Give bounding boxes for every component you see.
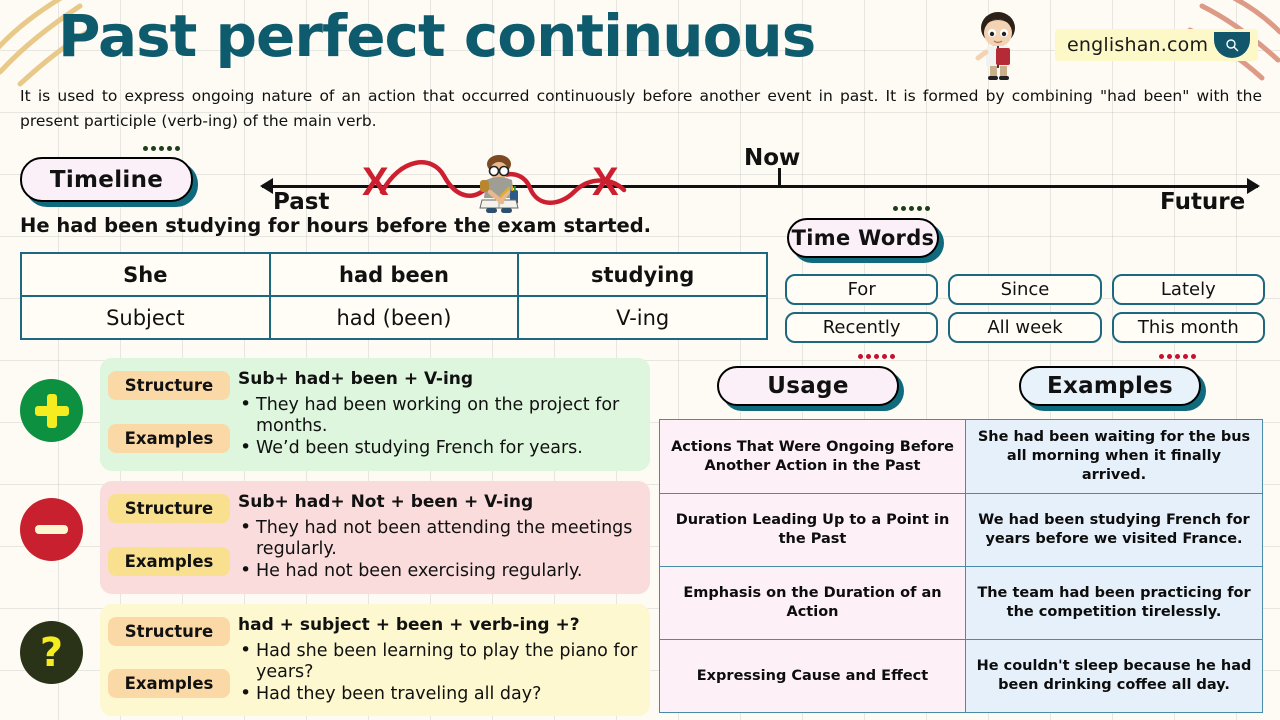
positive-content: Sub+ had+ been + V-ing They had been wor… (230, 366, 640, 463)
plus-glyph (35, 394, 69, 428)
table-row: Emphasis on the Duration of an Action Th… (660, 567, 1263, 640)
intro-paragraph: It is used to express ongoing nature of … (20, 84, 1262, 134)
usage-cell: Emphasis on the Duration of an Action (660, 567, 966, 640)
time-word-chip[interactable]: For (785, 274, 938, 305)
usage-cell: Duration Leading Up to a Point in the Pa… (660, 494, 966, 567)
boy-with-book-mascot-icon (968, 8, 1028, 80)
minus-glyph (35, 525, 68, 534)
question-glyph: ? (40, 633, 63, 673)
negative-content: Sub+ had+ Not + been + V-ing They had no… (230, 489, 640, 586)
list-item: He had not been exercising regularly. (238, 561, 640, 582)
table-row: She had been studying (21, 253, 767, 296)
negative-examples-list: They had not been attending the meetings… (238, 518, 640, 582)
usage-badge-label: Usage (767, 373, 848, 399)
positive-tag-column: Structure Examples (108, 366, 230, 463)
brand-text: englishan.com (1067, 34, 1208, 56)
timeline-past-label: Past (273, 189, 329, 215)
usage-badge-dots (858, 354, 895, 359)
timeline-arrow-right-icon (1247, 178, 1260, 194)
form-structure-table: She had been studying Subject had (been)… (20, 252, 768, 340)
page-title: Past perfect continuous (58, 2, 815, 70)
question-examples-list: Had she been learning to play the piano … (238, 641, 640, 705)
examples-badge-dots (1159, 354, 1196, 359)
question-circle-icon: ? (20, 621, 83, 684)
example-cell: We had been studying French for years be… (966, 494, 1263, 567)
usage-cell: Actions That Were Ongoing Before Another… (660, 420, 966, 494)
question-structure-formula: had + subject + been + verb-ing +? (238, 615, 640, 635)
question-tag-column: Structure Examples (108, 612, 230, 708)
usage-examples-table: Actions That Were Ongoing Before Another… (659, 419, 1263, 713)
list-item: Had they been traveling all day? (238, 684, 640, 705)
negative-structure-block: Structure Examples Sub+ had+ Not + been … (100, 481, 650, 594)
form-cell-aux-head: had been (270, 253, 519, 296)
list-item: We’d been studying French for years. (238, 438, 640, 459)
time-words-grid: For Since Lately Recently All week This … (785, 274, 1265, 343)
form-cell-aux-body: had (been) (270, 296, 519, 339)
structure-tag: Structure (108, 371, 230, 400)
usage-cell: Expressing Cause and Effect (660, 640, 966, 713)
form-cell-subject-head: She (21, 253, 270, 296)
table-row: Subject had (been) V-ing (21, 296, 767, 339)
list-item: They had not been attending the meetings… (238, 518, 640, 560)
positive-examples-list: They had been working on the project for… (238, 395, 640, 459)
timeline-start-marker: X (362, 160, 389, 205)
minus-circle-icon (20, 498, 83, 561)
question-structure-block: Structure Examples had + subject + been … (100, 604, 650, 716)
examples-badge: Examples (1019, 366, 1201, 406)
form-cell-verb-body: V-ing (518, 296, 767, 339)
negative-structure-formula: Sub+ had+ Not + been + V-ing (238, 492, 640, 512)
list-item: Had she been learning to play the piano … (238, 641, 640, 683)
examples-tag: Examples (108, 547, 230, 576)
structure-tag: Structure (108, 617, 230, 646)
example-cell: He couldn't sleep because he had been dr… (966, 640, 1263, 713)
time-word-chip[interactable]: Recently (785, 312, 938, 343)
student-studying-icon (468, 152, 530, 214)
time-word-chip[interactable]: Lately (1112, 274, 1265, 305)
examples-badge-label: Examples (1047, 373, 1173, 399)
time-words-badge-dots (893, 206, 930, 211)
time-words-badge-label: Time Words (792, 226, 935, 250)
time-word-chip[interactable]: This month (1112, 312, 1265, 343)
examples-tag: Examples (108, 424, 230, 453)
examples-tag: Examples (108, 669, 230, 698)
usage-badge: Usage (717, 366, 899, 406)
form-cell-subject-body: Subject (21, 296, 270, 339)
infographic-canvas: Past perfect continuous englishan.com It… (0, 0, 1280, 720)
example-cell: The team had been practicing for the com… (966, 567, 1263, 640)
timeline-badge-label: Timeline (50, 167, 163, 193)
timeline-end-marker: X (592, 160, 619, 205)
structure-tag: Structure (108, 494, 230, 523)
brand-logo[interactable]: englishan.com (1055, 29, 1258, 61)
negative-tag-column: Structure Examples (108, 489, 230, 586)
plus-circle-icon (20, 379, 83, 442)
positive-structure-block: Structure Examples Sub+ had+ been + V-in… (100, 358, 650, 471)
question-content: had + subject + been + verb-ing +? Had s… (230, 612, 640, 708)
table-row: Actions That Were Ongoing Before Another… (660, 420, 1263, 494)
timeline-example-sentence: He had been studying for hours before th… (20, 214, 651, 237)
time-words-badge: Time Words (787, 218, 939, 258)
timeline-now-label: Now (744, 145, 800, 171)
timeline-badge: Timeline (20, 157, 193, 202)
table-row: Expressing Cause and Effect He couldn't … (660, 640, 1263, 713)
time-word-chip[interactable]: Since (948, 274, 1101, 305)
timeline-arrow-left-icon (260, 178, 273, 194)
positive-structure-formula: Sub+ had+ been + V-ing (238, 369, 640, 389)
time-word-chip[interactable]: All week (948, 312, 1101, 343)
timeline-future-label: Future (1160, 189, 1245, 215)
timeline-badge-dots (143, 146, 180, 151)
table-row: Duration Leading Up to a Point in the Pa… (660, 494, 1263, 567)
search-icon (1214, 32, 1250, 58)
timeline-now-tick (778, 168, 781, 186)
example-cell: She had been waiting for the bus all mor… (966, 420, 1263, 494)
form-cell-verb-head: studying (518, 253, 767, 296)
list-item: They had been working on the project for… (238, 395, 640, 437)
